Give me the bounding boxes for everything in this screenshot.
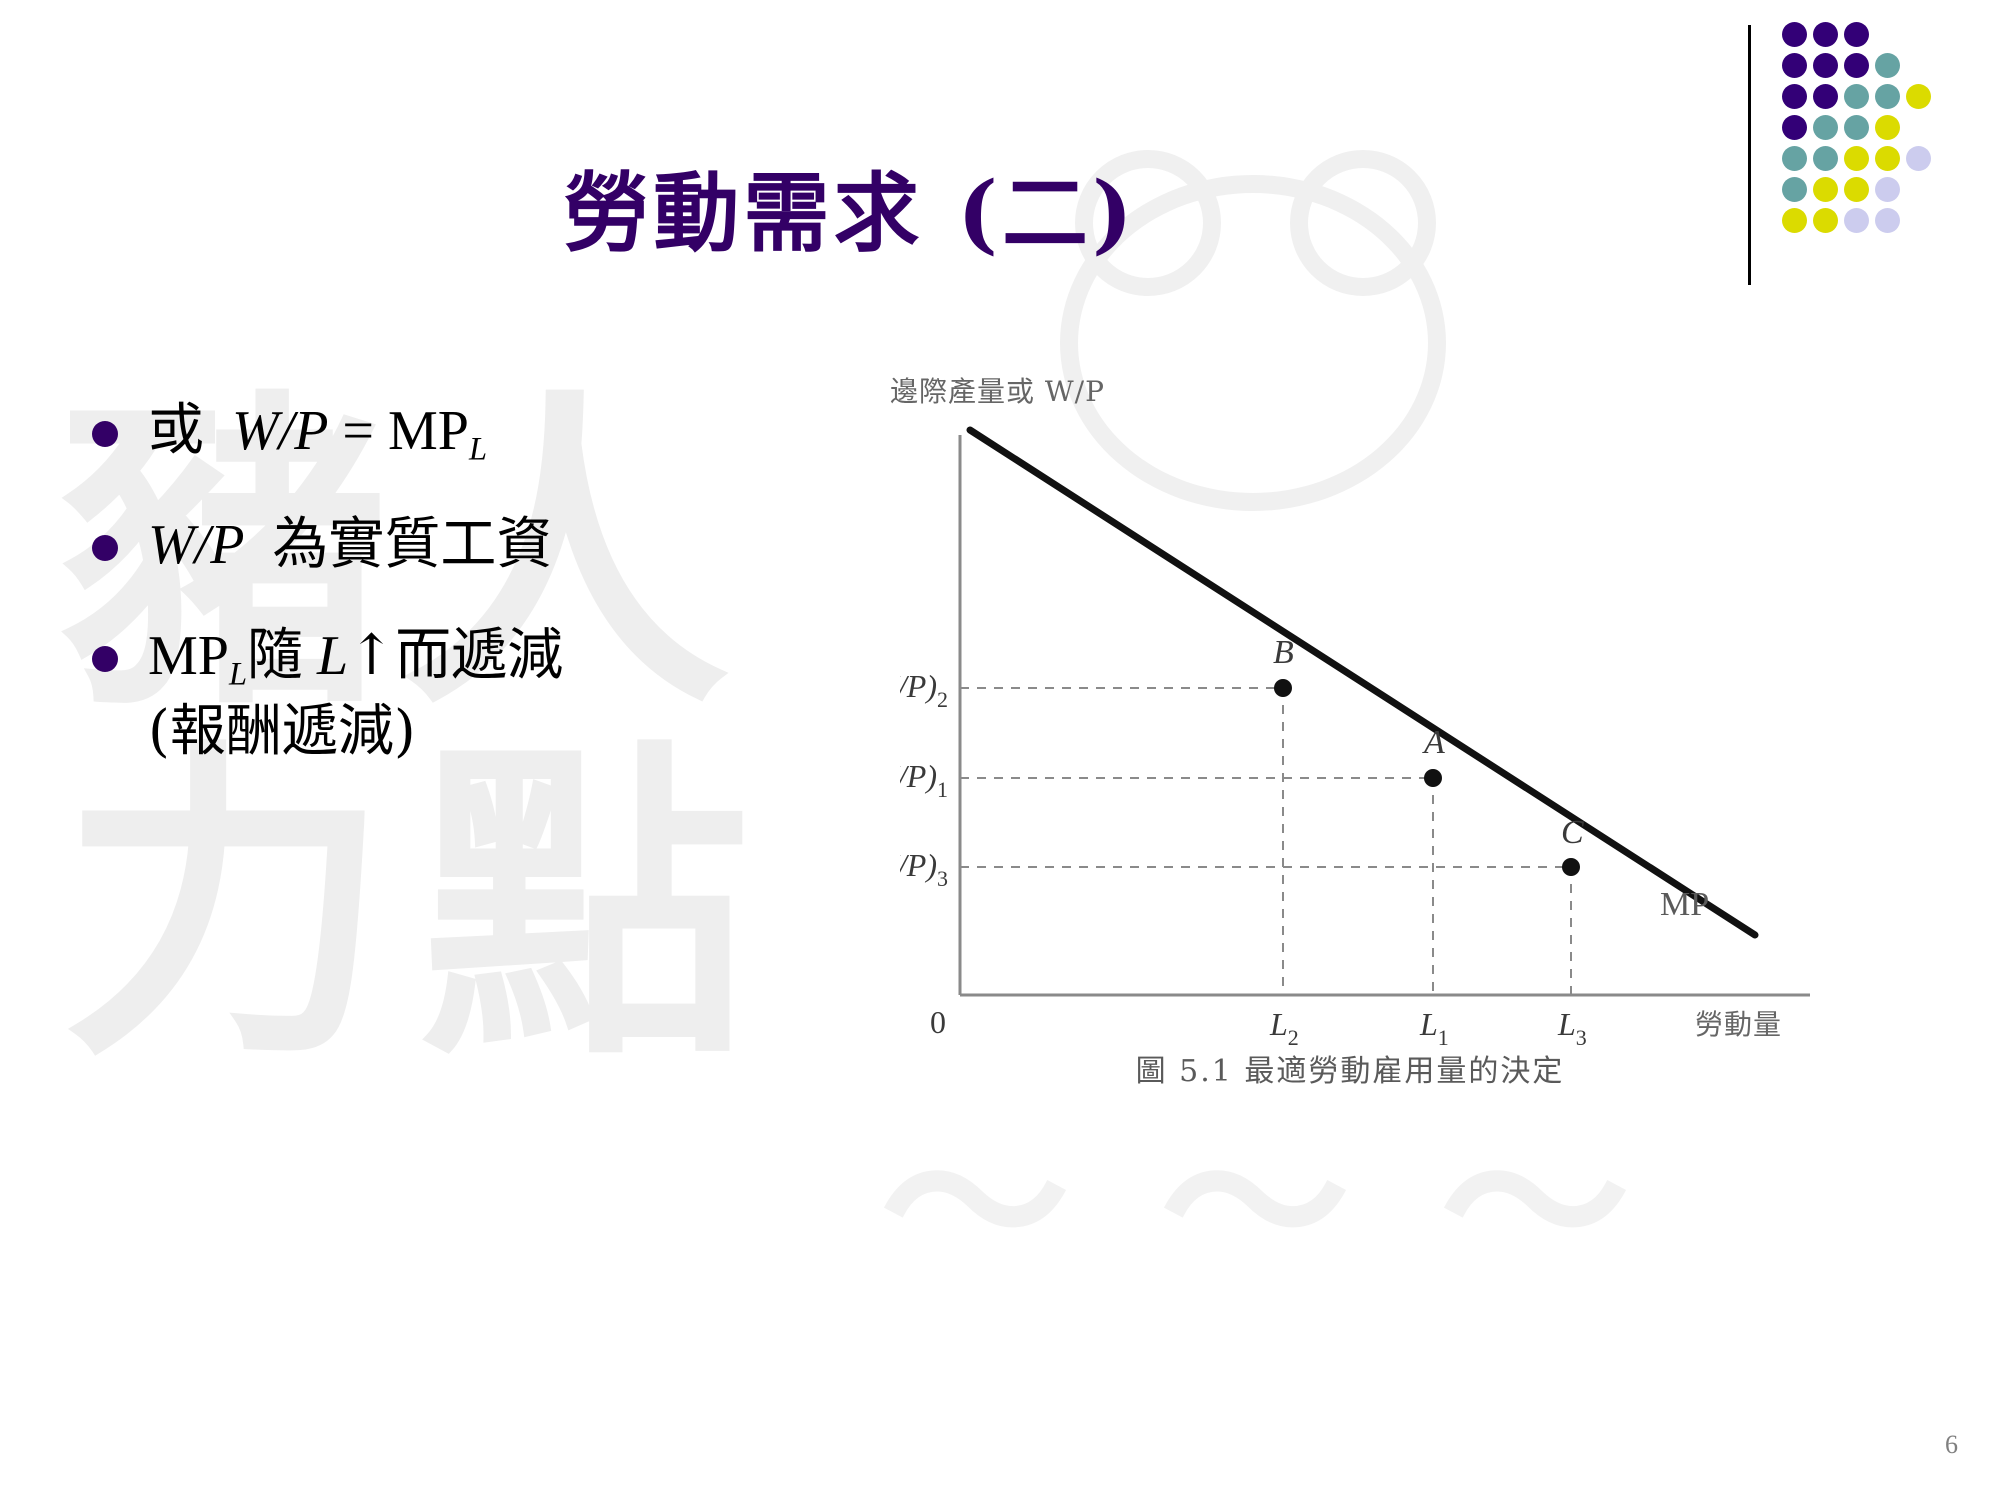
watermark-swirl-mid: 〜 xyxy=(1160,1110,1350,1300)
data-point-c xyxy=(1562,858,1580,876)
x-axis-label-cjk: 勞動量 xyxy=(1695,1008,1782,1041)
logo-dot-purple xyxy=(1813,53,1838,78)
series-label-mp: MP xyxy=(1660,886,1709,923)
page-title: 勞動需求 (二) xyxy=(0,143,1700,268)
dot-grid-logo xyxy=(1782,22,1937,239)
list-item[interactable]: W/P 為實質工資 xyxy=(92,509,732,582)
logo-dot-yellow xyxy=(1844,177,1869,202)
bullet-3-variable: L xyxy=(317,625,348,687)
y-tick-label-1: (W/P)1 xyxy=(900,758,948,802)
logo-dot-yellow xyxy=(1906,84,1931,109)
logo-dot-teal xyxy=(1844,115,1869,140)
bullet-1-term-sub: L xyxy=(469,431,487,467)
bullet-2-cjk: 為實質工資 xyxy=(272,512,552,577)
data-point-a xyxy=(1424,769,1442,787)
logo-dot-purple xyxy=(1813,84,1838,109)
figure-caption: 圖 5.1 最適勞動雇用量的決定 xyxy=(900,1046,1800,1090)
logo-dot-purple xyxy=(1782,115,1807,140)
y-axis-label-text: 邊際產量或 W/P xyxy=(890,370,1105,410)
logo-dot-purple xyxy=(1782,84,1807,109)
logo-dot-blank xyxy=(1906,177,1931,202)
bullet-1-formula: W/P xyxy=(232,400,328,462)
y-axis-label-cjk: 邊際產量或 W/P xyxy=(890,375,1105,408)
figure-mp-curve: B A C MP (W/P)2 (W/P)1 (W/P)3 0 L2 L1 L3… xyxy=(900,415,1860,1115)
mp-curve-line xyxy=(970,430,1755,935)
logo-dot-blank xyxy=(1906,208,1931,233)
bullet-2-formula: W/P xyxy=(148,514,244,576)
x-tick-label-1: L1 xyxy=(1419,1006,1449,1050)
logo-dot-yellow xyxy=(1782,208,1807,233)
logo-dot-lavender xyxy=(1875,208,1900,233)
y-tick-label-3: (W/P)3 xyxy=(900,847,948,891)
logo-dot-teal xyxy=(1813,115,1838,140)
x-tick-label-2: L2 xyxy=(1269,1006,1299,1050)
logo-dot-blank xyxy=(1906,53,1931,78)
bullet-3-cjk-tail: 而遞減 xyxy=(395,623,563,688)
logo-dot-blank xyxy=(1906,115,1931,140)
logo-vertical-rule xyxy=(1748,25,1751,285)
logo-dot-teal xyxy=(1782,177,1807,202)
dot-grid-row xyxy=(1782,84,1937,115)
bullet-list: 或 W/P = MPL W/P 為實質工資 MPL隨 L↑而遞減 (報酬遞減) xyxy=(92,395,732,805)
logo-dot-teal xyxy=(1782,146,1807,171)
x-tick-label-3: L3 xyxy=(1557,1006,1587,1050)
list-item[interactable]: 或 W/P = MPL xyxy=(92,395,732,471)
logo-dot-yellow xyxy=(1875,115,1900,140)
watermark-swirl-left: 〜 xyxy=(880,1110,1070,1300)
up-arrow-icon: ↑ xyxy=(348,623,395,688)
logo-dot-teal xyxy=(1875,84,1900,109)
bullet-3-cjk-mid: 隨 xyxy=(247,623,303,688)
bullet-1-equals: = xyxy=(342,400,374,462)
dot-grid-row xyxy=(1782,208,1937,239)
dot-grid-row xyxy=(1782,53,1937,84)
bullet-text-1: 或 W/P = MPL xyxy=(148,395,487,471)
bullet-dot-icon xyxy=(92,421,118,447)
logo-dot-lavender xyxy=(1844,208,1869,233)
logo-dot-purple xyxy=(1844,53,1869,78)
y-tick-label-2: (W/P)2 xyxy=(900,668,948,712)
logo-dot-teal xyxy=(1875,53,1900,78)
logo-dot-lavender xyxy=(1875,177,1900,202)
bullet-text-2: W/P 為實質工資 xyxy=(148,509,552,582)
logo-dot-yellow xyxy=(1844,146,1869,171)
x-axis-label-text: 勞動量 xyxy=(1695,1003,1782,1043)
dot-grid-row xyxy=(1782,146,1937,177)
point-label-c: C xyxy=(1561,814,1584,851)
logo-dot-blank xyxy=(1875,22,1900,47)
bullet-3-line2: (報酬遞減) xyxy=(148,696,563,768)
watermark-swirl-right: 〜 xyxy=(1440,1110,1630,1300)
logo-dot-teal xyxy=(1844,84,1869,109)
logo-dot-purple xyxy=(1782,22,1807,47)
logo-dot-yellow xyxy=(1813,208,1838,233)
logo-dot-purple xyxy=(1813,22,1838,47)
logo-dot-purple xyxy=(1782,53,1807,78)
bullet-dot-icon xyxy=(92,646,118,672)
bullet-3-term: MP xyxy=(148,625,229,687)
point-label-a: A xyxy=(1422,724,1445,761)
dot-grid-row xyxy=(1782,115,1937,146)
point-label-b: B xyxy=(1273,634,1294,671)
origin-label: 0 xyxy=(930,1004,946,1040)
bullet-dot-icon xyxy=(92,535,118,561)
bullet-3-term-sub: L xyxy=(229,656,247,692)
logo-dot-purple xyxy=(1844,22,1869,47)
list-item[interactable]: MPL隨 L↑而遞減 (報酬遞減) xyxy=(92,620,732,768)
bullet-text-3: MPL隨 L↑而遞減 (報酬遞減) xyxy=(148,620,563,768)
logo-dot-teal xyxy=(1813,146,1838,171)
dot-grid-row xyxy=(1782,22,1937,53)
data-point-b xyxy=(1274,679,1292,697)
bullet-1-prefix: 或 xyxy=(148,398,204,463)
bullet-1-term: MP xyxy=(388,400,469,462)
logo-dot-yellow xyxy=(1875,146,1900,171)
dot-grid-row xyxy=(1782,177,1937,208)
logo-dot-blank xyxy=(1906,22,1931,47)
logo-dot-yellow xyxy=(1813,177,1838,202)
page-number: 6 xyxy=(1945,1430,1958,1460)
logo-dot-lavender xyxy=(1906,146,1931,171)
